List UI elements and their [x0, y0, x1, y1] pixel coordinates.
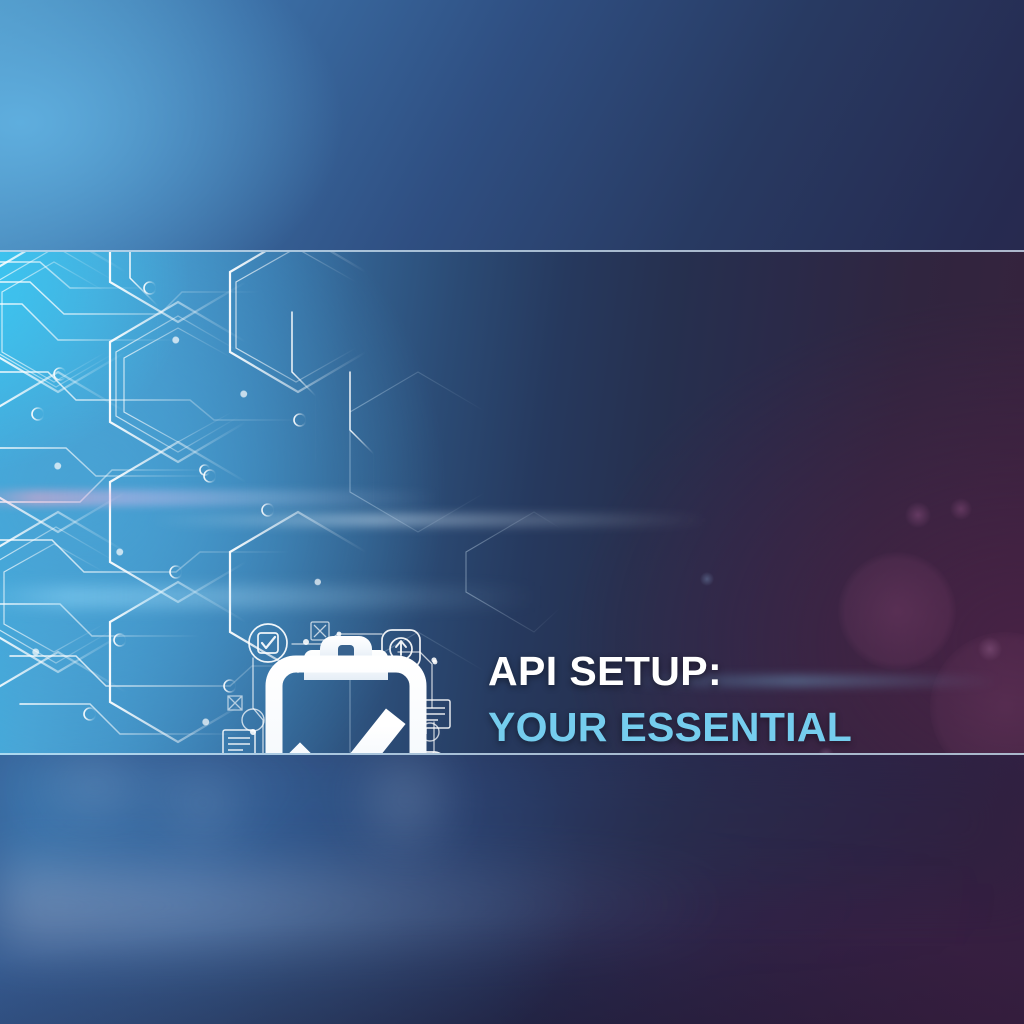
bokeh-orb [950, 498, 972, 520]
checkbox-checked-icon [249, 624, 287, 662]
headline-line-1: API SETUP: [488, 650, 958, 692]
blurred-reflection-top [0, 756, 1024, 886]
headline-line-3: CHECKLIST [488, 752, 958, 755]
blurred-reflection-band [0, 866, 1024, 946]
headline-line-2: YOUR ESSENTIAL [488, 706, 958, 749]
list-lines-icon [223, 730, 255, 755]
hero-banner: API SETUP: YOUR ESSENTIAL CHECKLIST TO G… [0, 250, 1024, 755]
image-placeholder-icon [228, 696, 242, 710]
poster-canvas: API SETUP: YOUR ESSENTIAL CHECKLIST TO G… [0, 0, 1024, 1024]
blurred-reflection-blobs [0, 770, 1024, 890]
clipboard-body [274, 636, 418, 755]
headline-block: API SETUP: YOUR ESSENTIAL CHECKLIST TO G… [488, 650, 958, 755]
clipboard-checklist-icon [206, 612, 486, 755]
image-placeholder-icon [311, 622, 329, 640]
bokeh-orb [978, 637, 1002, 661]
bokeh-orb [700, 572, 714, 586]
bokeh-orb [905, 502, 931, 528]
